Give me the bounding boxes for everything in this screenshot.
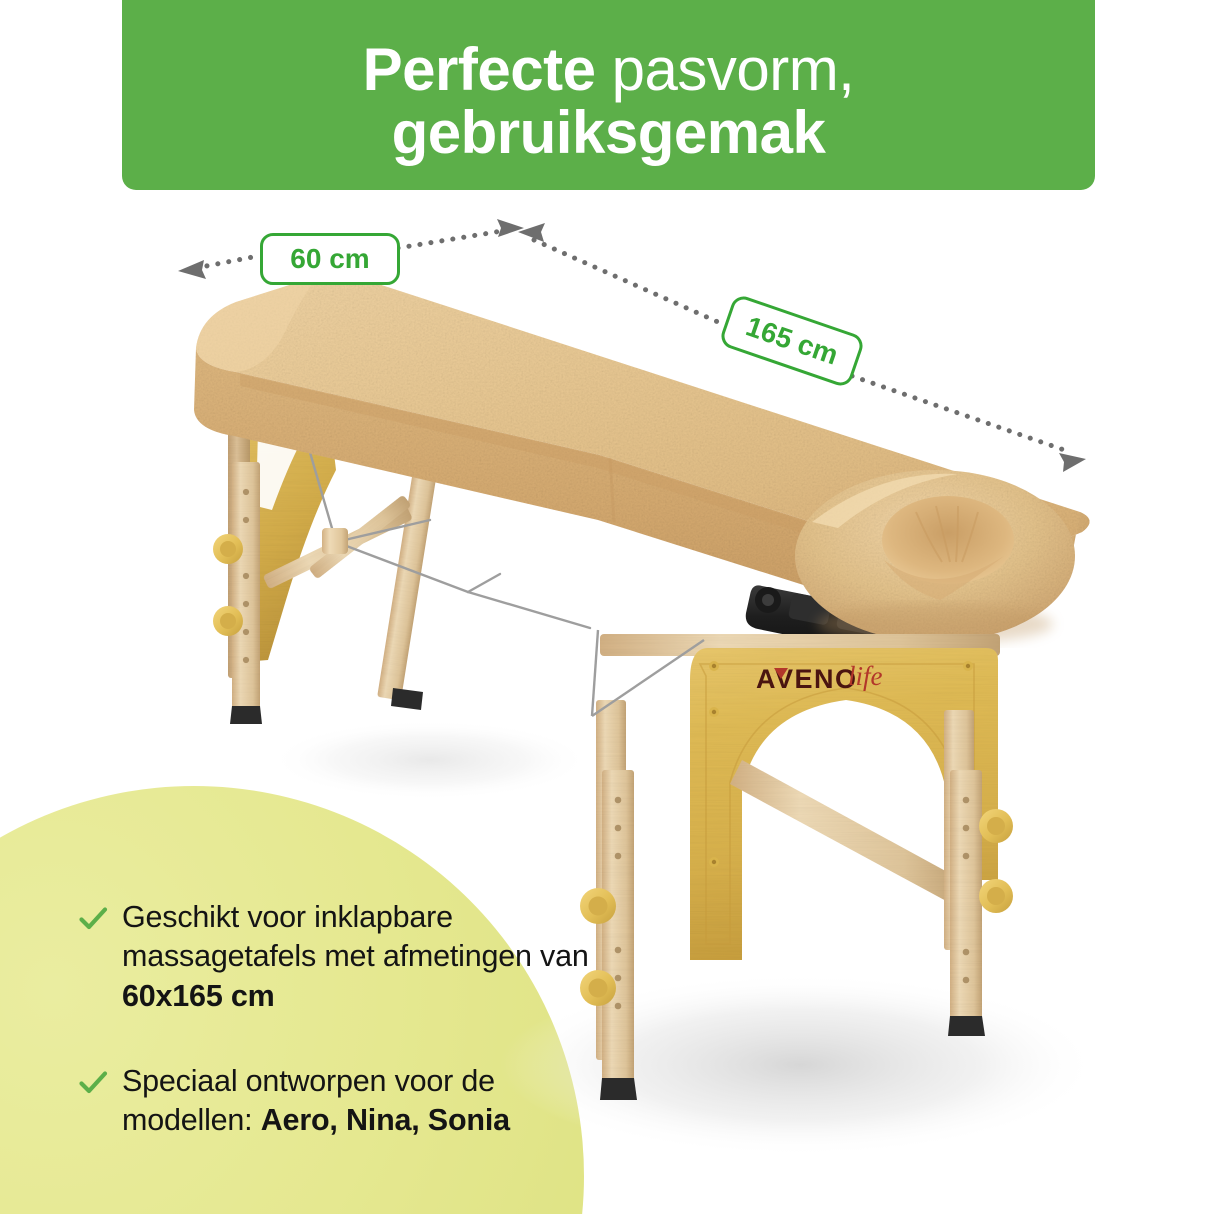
brand-logo-primary: AVENO xyxy=(756,664,858,694)
brand-logo-secondary: life xyxy=(848,661,883,691)
list-item-text: Geschikt voor inklapbare massagetafels m… xyxy=(122,898,598,1016)
bullet-1-text: Geschikt voor inklapbare massagetafels m… xyxy=(122,900,589,973)
check-icon xyxy=(78,904,108,934)
brand-logo: AVENO life xyxy=(756,661,883,694)
banner-line1-regular: pasvorm, xyxy=(595,36,854,103)
front-left-leg-lower xyxy=(602,770,634,1092)
list-item: Speciaal ontworpen voor de modellen: Aer… xyxy=(78,1062,598,1141)
bullet-1-bold: 60x165 cm xyxy=(122,979,275,1013)
rear-leg-lower xyxy=(232,462,260,724)
list-item: Geschikt voor inklapbare massagetafels m… xyxy=(78,898,598,1016)
height-knob-right-upper xyxy=(979,809,1013,843)
list-item-text: Speciaal ontworpen voor de modellen: Aer… xyxy=(122,1062,598,1141)
face-cradle-opening xyxy=(882,496,1014,584)
leg-foot-front-right xyxy=(948,1016,985,1036)
dimension-label-width: 60 cm xyxy=(260,233,400,285)
height-knob-rear-lower xyxy=(213,606,243,636)
leg-foot-mid xyxy=(391,688,423,710)
diagonal-strut xyxy=(730,760,962,902)
height-knob-rear-upper xyxy=(213,534,243,564)
banner-line2-bold: gebruiksgemak xyxy=(392,99,826,166)
header-banner: Perfecte pasvorm, gebruiksgemak xyxy=(122,0,1095,190)
leg-foot-front-left xyxy=(600,1078,637,1100)
infographic-poster: AVENO life xyxy=(0,0,1214,1214)
bullet-2-bold: Aero, Nina, Sonia xyxy=(261,1103,510,1137)
banner-line1-bold: Perfecte xyxy=(363,36,596,103)
feature-list: Geschikt voor inklapbare massagetafels m… xyxy=(78,898,598,1141)
leg-foot-rear xyxy=(230,706,262,724)
check-icon xyxy=(78,1068,108,1098)
banner-headline: Perfecte pasvorm, gebruiksgemak xyxy=(363,39,855,164)
height-knob-right-lower xyxy=(979,879,1013,913)
front-right-leg-lower xyxy=(950,770,982,1032)
floor-shadow-rear xyxy=(270,720,590,800)
